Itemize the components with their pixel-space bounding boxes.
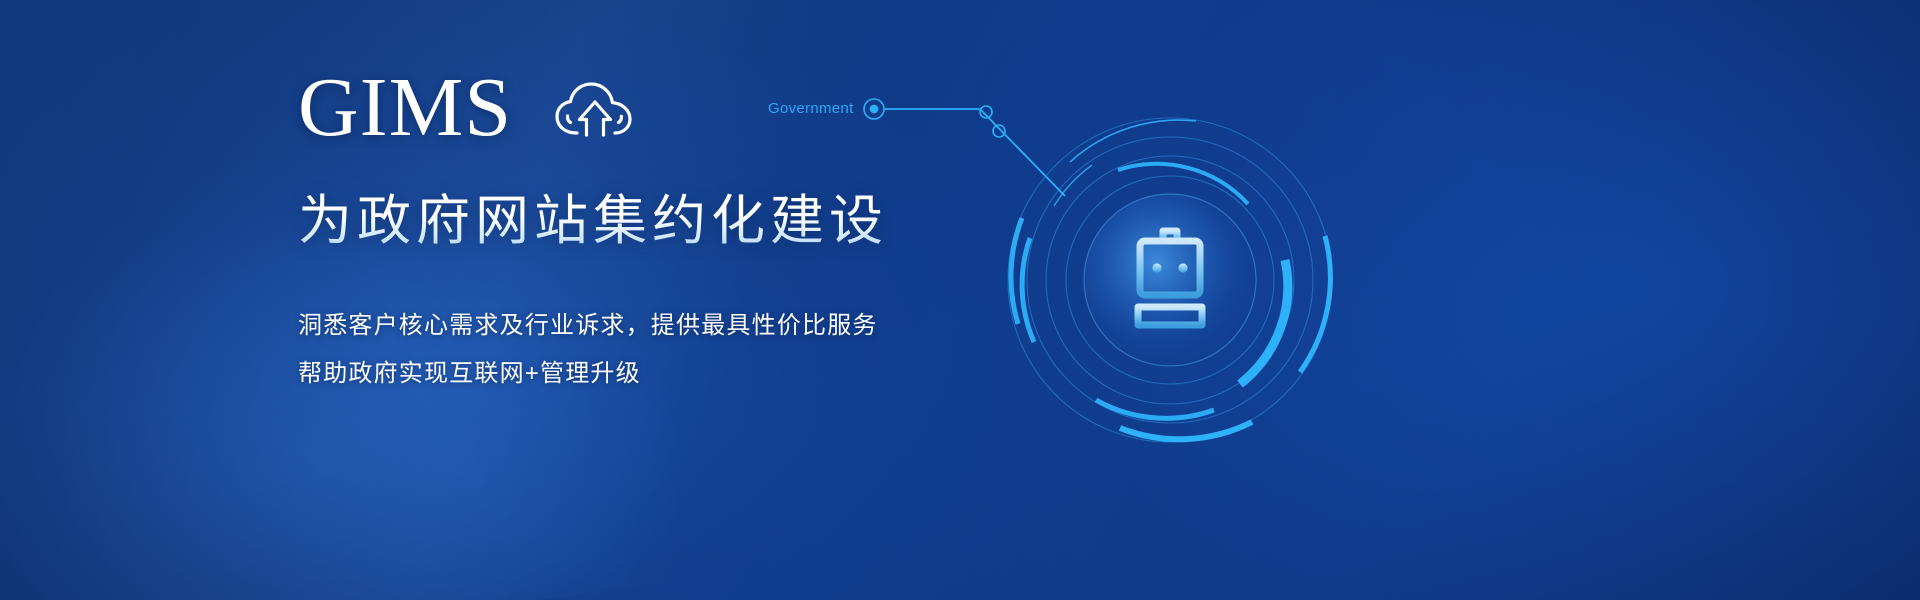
page-title: GIMS <box>298 64 512 152</box>
tech-circle-graphic <box>1000 110 1340 450</box>
gims-hero-banner: GIMS 为政府网站集约化建设 洞悉客户核心需求及行业诉求，提供最具性价比服务 … <box>0 0 1920 600</box>
cloud-upload-icon <box>552 78 638 138</box>
arc-outer-right <box>1300 236 1330 372</box>
robot-eye-right <box>1178 263 1187 272</box>
core-disc <box>1084 194 1256 366</box>
arc-mid-topleft <box>1054 165 1092 206</box>
robot-eye-left <box>1152 263 1161 272</box>
arc-outer-bottom <box>1120 422 1252 439</box>
government-node-label: Government <box>768 100 854 117</box>
arc-mid-left <box>1022 238 1034 342</box>
